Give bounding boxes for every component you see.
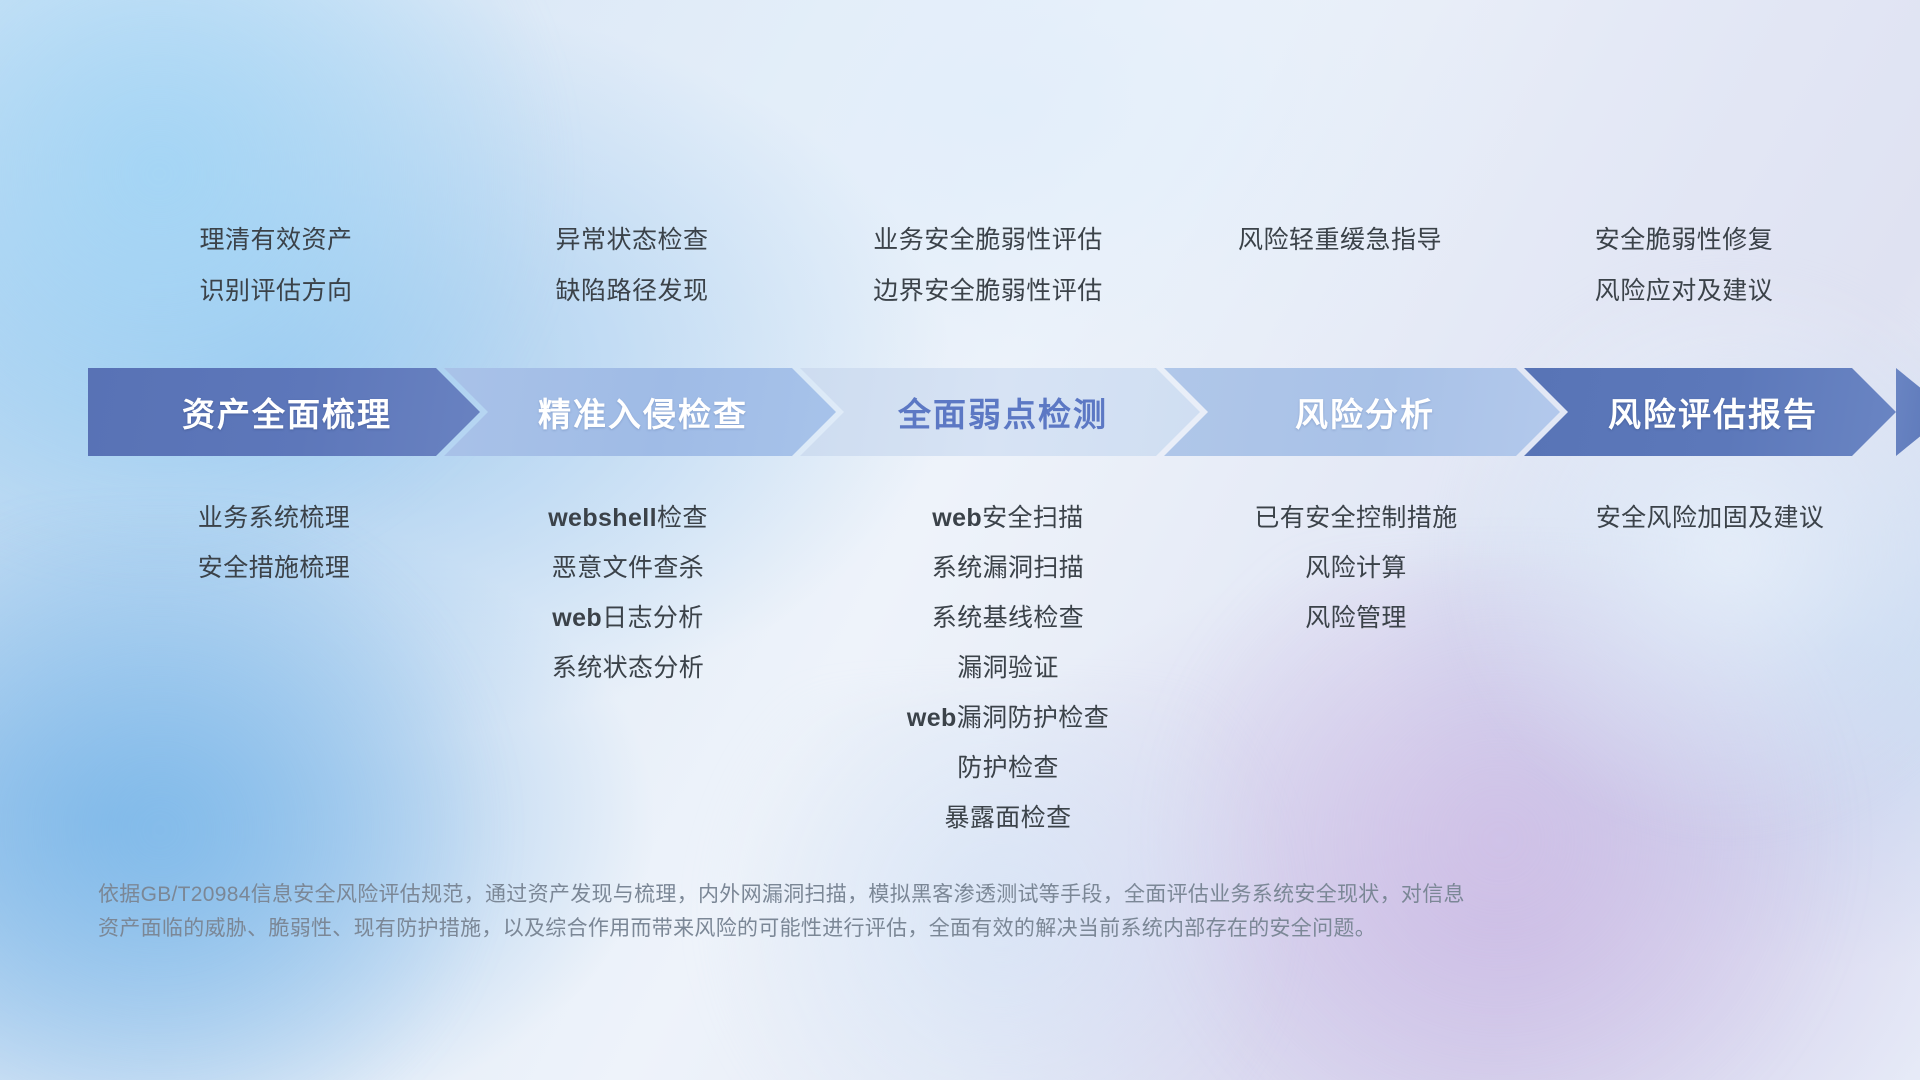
top-outcomes-stage-3: 业务安全脆弱性评估 边界安全脆弱性评估 bbox=[808, 228, 1168, 330]
bottom-activities-stage-4: 已有安全控制措施 风险计算 风险管理 bbox=[1180, 506, 1532, 656]
bottom-activities-stage-3: web安全扫描 系统漏洞扫描 系统基线检查 漏洞验证 web漏洞防护检查 防护检… bbox=[808, 506, 1208, 856]
bottom-activities-stage-5: 安全风险加固及建议 bbox=[1524, 506, 1896, 556]
activity-item: 暴露面检查 bbox=[808, 806, 1208, 831]
top-outcome-item: 业务安全脆弱性评估 bbox=[808, 228, 1168, 253]
activity-item: 防护检查 bbox=[808, 756, 1208, 781]
chevron-label: 资产全面梳理 bbox=[176, 388, 392, 436]
activity-item: 风险管理 bbox=[1180, 606, 1532, 631]
top-outcomes-row: 理清有效资产 识别评估方向 异常状态检查 缺陷路径发现 业务安全脆弱性评估 边界… bbox=[96, 228, 1856, 330]
slide-content: 理清有效资产 识别评估方向 异常状态检查 缺陷路径发现 业务安全脆弱性评估 边界… bbox=[0, 0, 1920, 1080]
chevron-label: 全面弱点检测 bbox=[892, 388, 1108, 436]
top-outcomes-stage-4: 风险轻重缓急指导 bbox=[1168, 228, 1512, 330]
chevron-stage-risk-report[interactable]: 风险评估报告 bbox=[1524, 368, 1896, 456]
top-outcome-item: 风险轻重缓急指导 bbox=[1168, 228, 1512, 253]
top-outcome-item: 边界安全脆弱性评估 bbox=[808, 279, 1168, 304]
top-outcome-item: 风险应对及建议 bbox=[1512, 279, 1856, 304]
bottom-activities-stage-2: webshell检查 恶意文件查杀 web日志分析 系统状态分析 bbox=[448, 506, 808, 706]
activity-item: web日志分析 bbox=[448, 606, 808, 631]
chevron-stage-weakness-detection[interactable]: 全面弱点检测 bbox=[800, 368, 1200, 456]
top-outcome-item: 缺陷路径发现 bbox=[456, 279, 808, 304]
top-outcome-item: 异常状态检查 bbox=[456, 228, 808, 253]
activity-item: 系统状态分析 bbox=[448, 656, 808, 681]
chevron-label: 精准入侵检查 bbox=[532, 388, 748, 436]
activity-item: 安全措施梳理 bbox=[96, 556, 452, 581]
chevron-label: 风险分析 bbox=[1289, 388, 1435, 436]
top-outcome-item: 识别评估方向 bbox=[96, 279, 456, 304]
footer-description: 依据GB/T20984信息安全风险评估规范，通过资产发现与梳理，内外网漏洞扫描，… bbox=[98, 878, 1658, 946]
activity-item: 恶意文件查杀 bbox=[448, 556, 808, 581]
chevron-stage-intrusion-check[interactable]: 精准入侵检查 bbox=[444, 368, 836, 456]
footer-line-2: 资产面临的威胁、脆弱性、现有防护措施，以及综合作用而带来风险的可能性进行评估，全… bbox=[98, 912, 1658, 946]
top-outcomes-stage-1: 理清有效资产 识别评估方向 bbox=[96, 228, 456, 330]
process-chevron-banner: 资产全面梳理 精准入侵检查 全面弱点检测 风险分析 风险评估报告 bbox=[88, 368, 1848, 456]
activity-item: 已有安全控制措施 bbox=[1180, 506, 1532, 531]
chevron-stage-asset-inventory[interactable]: 资产全面梳理 bbox=[88, 368, 480, 456]
top-outcome-item: 理清有效资产 bbox=[96, 228, 456, 253]
chevron-label: 风险评估报告 bbox=[1602, 388, 1818, 436]
top-outcomes-stage-2: 异常状态检查 缺陷路径发现 bbox=[456, 228, 808, 330]
activity-item: webshell检查 bbox=[448, 506, 808, 531]
activity-item: web漏洞防护检查 bbox=[808, 706, 1208, 731]
chevron-arrow-tip-icon bbox=[1896, 368, 1920, 456]
activity-item: 系统基线检查 bbox=[808, 606, 1208, 631]
activity-item: 业务系统梳理 bbox=[96, 506, 452, 531]
bottom-activities-stage-1: 业务系统梳理 安全措施梳理 bbox=[96, 506, 452, 606]
activity-item: 安全风险加固及建议 bbox=[1524, 506, 1896, 531]
slide-canvas: 理清有效资产 识别评估方向 异常状态检查 缺陷路径发现 业务安全脆弱性评估 边界… bbox=[0, 0, 1920, 1080]
activity-item: web安全扫描 bbox=[808, 506, 1208, 531]
top-outcomes-stage-5: 安全脆弱性修复 风险应对及建议 bbox=[1512, 228, 1856, 330]
activity-item: 系统漏洞扫描 bbox=[808, 556, 1208, 581]
activity-item: 漏洞验证 bbox=[808, 656, 1208, 681]
footer-line-1: 依据GB/T20984信息安全风险评估规范，通过资产发现与梳理，内外网漏洞扫描，… bbox=[98, 878, 1658, 912]
chevron-stage-risk-analysis[interactable]: 风险分析 bbox=[1164, 368, 1560, 456]
top-outcome-item: 安全脆弱性修复 bbox=[1512, 228, 1856, 253]
activity-item: 风险计算 bbox=[1180, 556, 1532, 581]
